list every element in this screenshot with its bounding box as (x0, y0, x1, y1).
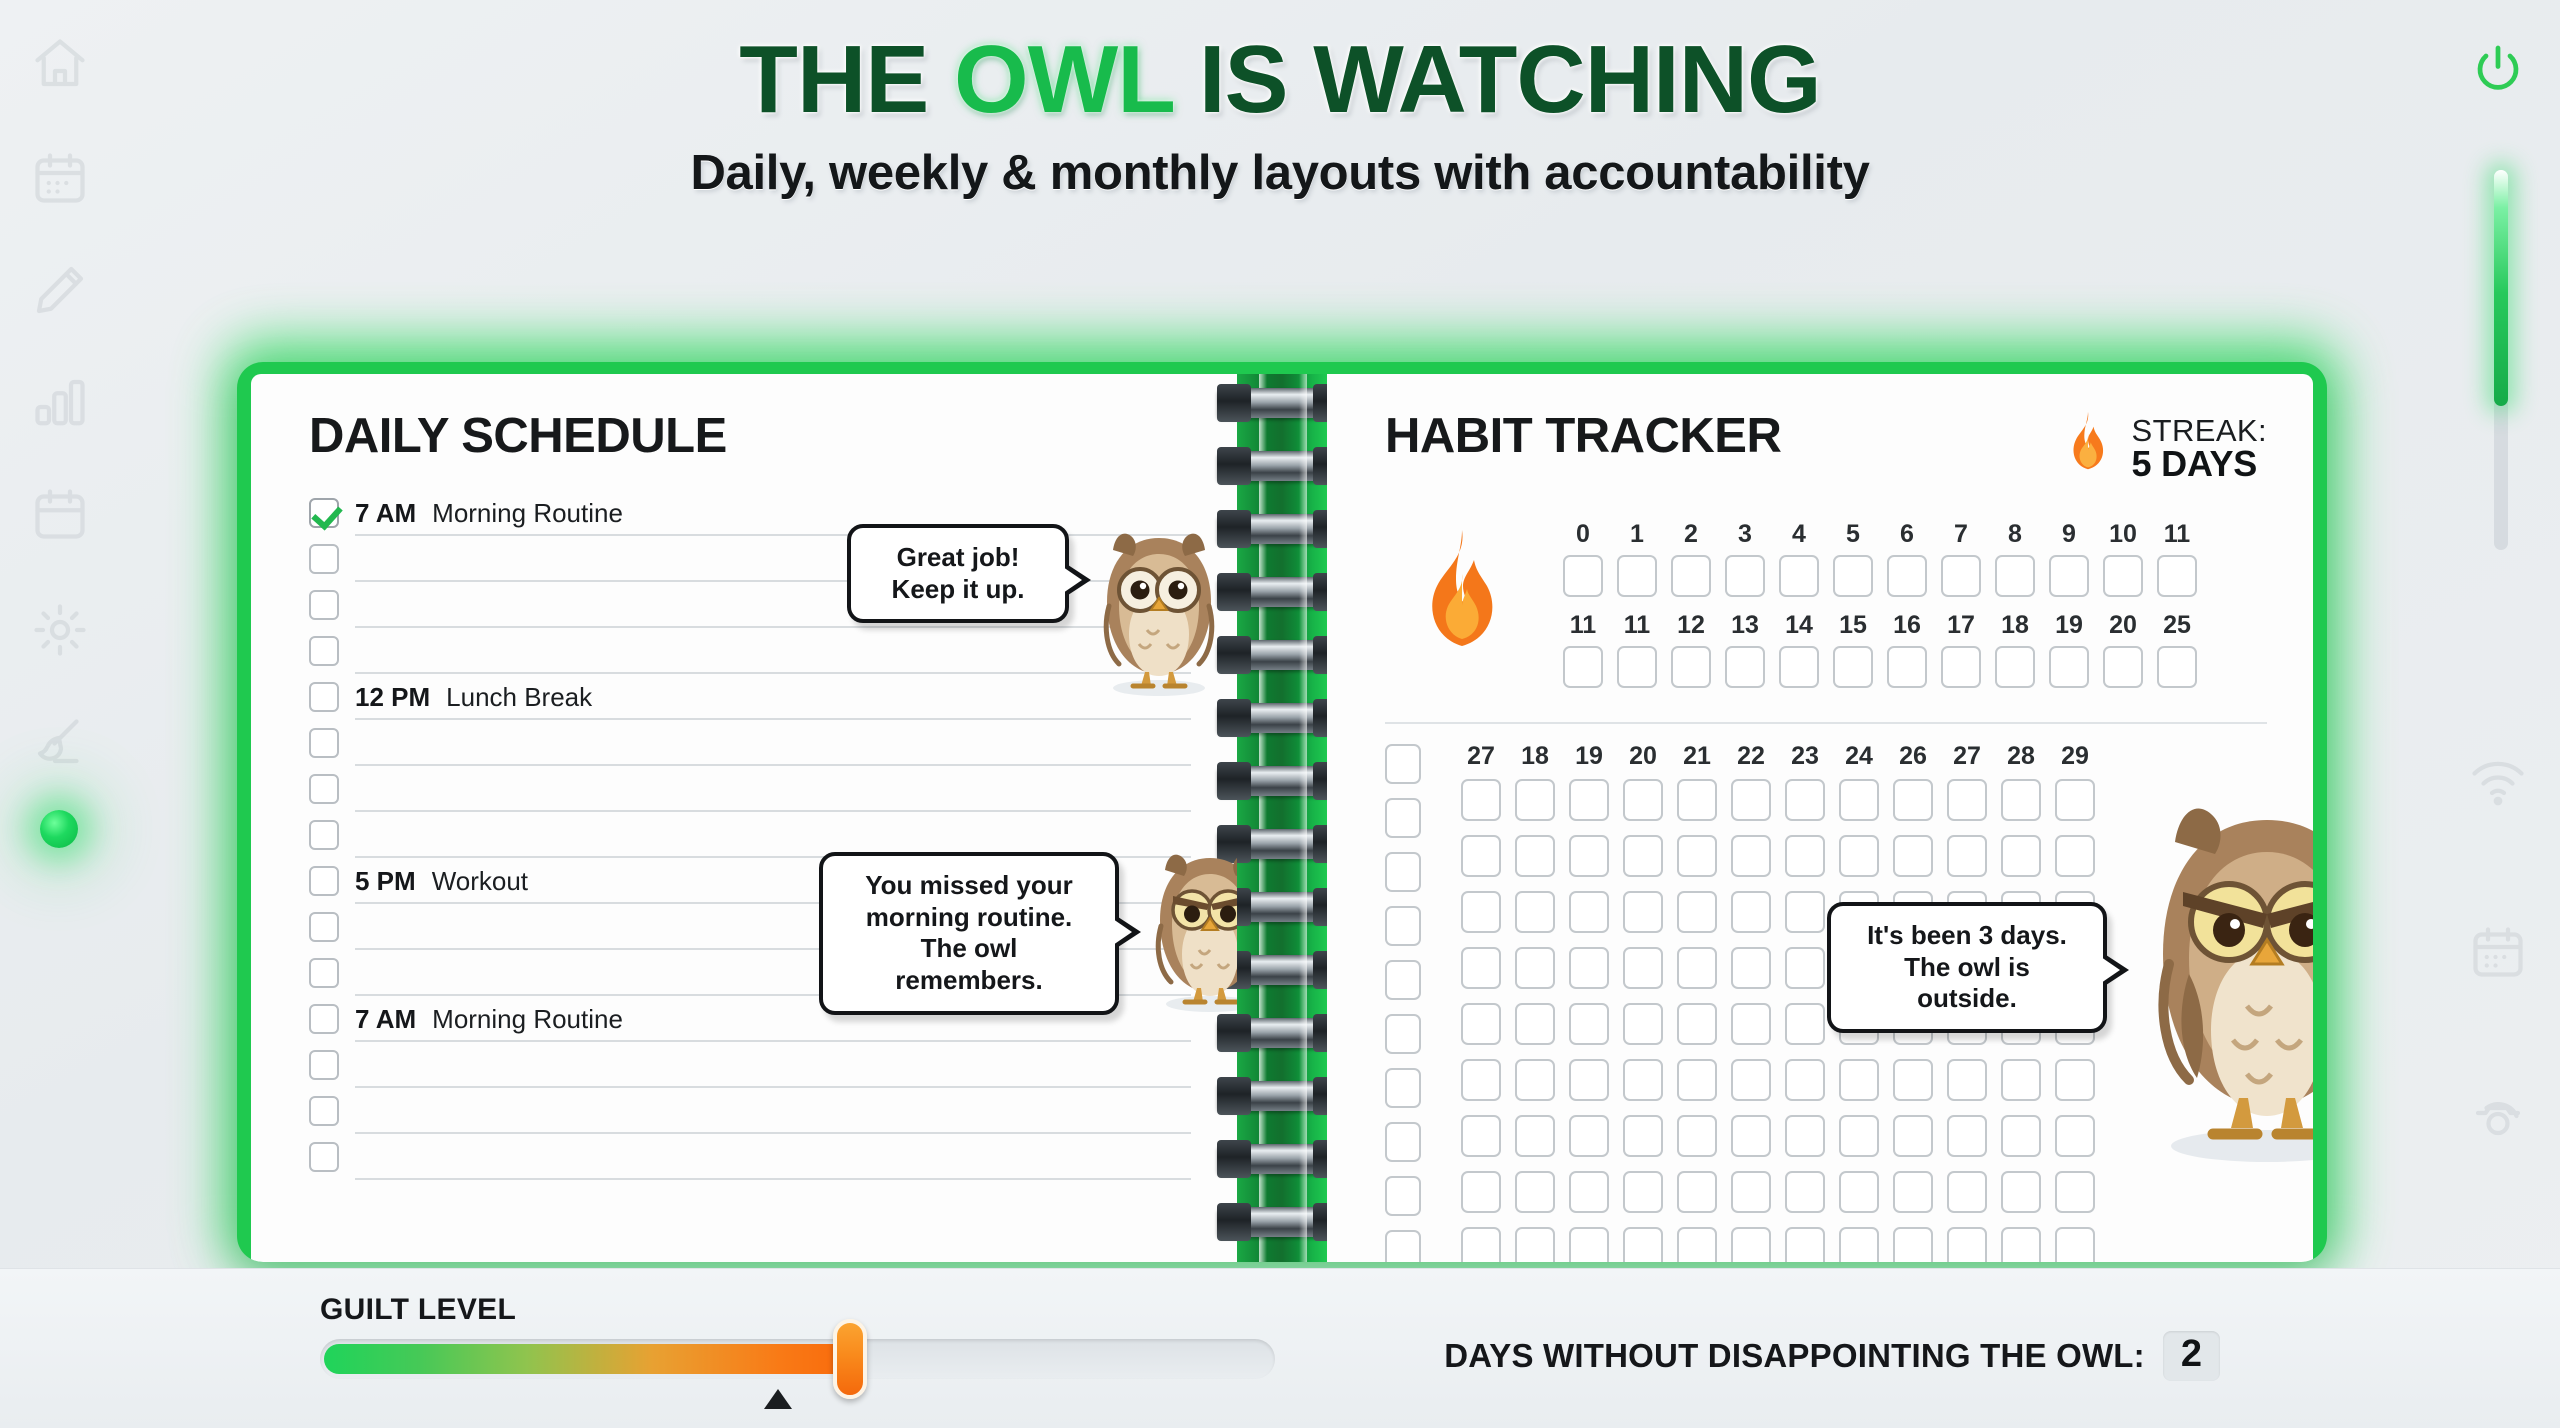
habit-cell[interactable] (2103, 646, 2143, 688)
schedule-checkbox-checked[interactable] (309, 498, 339, 528)
habit-name-checkbox[interactable] (1385, 1230, 1421, 1262)
habit-cell[interactable] (1785, 1059, 1825, 1101)
habit-cell[interactable] (1677, 947, 1717, 989)
habit-cell[interactable] (1461, 891, 1501, 933)
habit-cell[interactable] (1893, 1171, 1933, 1213)
habit-cell[interactable] (1461, 947, 1501, 989)
habit-cell[interactable] (1731, 779, 1771, 821)
habit-cell[interactable] (1569, 1059, 1609, 1101)
schedule-row[interactable] (309, 766, 1191, 812)
page-subtitle: Daily, weekly & monthly layouts with acc… (0, 145, 2560, 201)
habit-day-number: 27 (1461, 742, 1501, 771)
habit-cell[interactable] (1947, 835, 1987, 877)
habit-cell[interactable] (1785, 1171, 1825, 1213)
habit-day-number: 1 (1617, 520, 1657, 549)
habit-cell[interactable] (1677, 1171, 1717, 1213)
habit-cell[interactable] (1833, 555, 1873, 597)
daily-schedule-title: DAILY SCHEDULE (309, 408, 1191, 464)
habit-cell[interactable] (1623, 1059, 1663, 1101)
daily-schedule-page: DAILY SCHEDULE 7 AMMorning Routine12 PML… (251, 374, 1237, 1262)
habit-cell[interactable] (2055, 1227, 2095, 1262)
habit-day-number: 7 (1941, 520, 1981, 549)
habit-cell[interactable] (2001, 835, 2041, 877)
left-sidebar (0, 0, 200, 1428)
habit-day-number: 6 (1887, 520, 1927, 549)
vertical-slider-fill (2494, 170, 2508, 406)
habit-name-checkbox[interactable] (1385, 744, 1421, 784)
habit-cell[interactable] (1569, 947, 1609, 989)
habit-cell[interactable] (1947, 1115, 1987, 1157)
habit-cell[interactable] (1731, 835, 1771, 877)
guilt-level-slider[interactable] (320, 1339, 1275, 1379)
camera-refresh-icon[interactable] (2456, 1080, 2540, 1164)
habit-day-number: 11 (2157, 520, 2197, 549)
habit-cell[interactable] (1995, 646, 2035, 688)
streak-badge: STREAK: 5 DAYS (2060, 410, 2267, 489)
habit-name-checkbox[interactable] (1385, 906, 1421, 946)
schedule-line: 7 AMMorning Routine (355, 490, 1191, 536)
habit-cell[interactable] (1563, 555, 1603, 597)
habit-cell[interactable] (1731, 1003, 1771, 1045)
habit-day-number: 4 (1779, 520, 1819, 549)
guilt-level-thumb[interactable] (833, 1319, 867, 1399)
habit-day-number: 26 (1893, 742, 1933, 771)
habit-cell[interactable] (2049, 555, 2089, 597)
habit-cell[interactable] (2055, 1059, 2095, 1101)
guilt-level-marker (764, 1389, 792, 1409)
habit-cell[interactable] (1779, 555, 1819, 597)
habit-cell[interactable] (1677, 779, 1717, 821)
habit-day-number: 25 (2157, 611, 2197, 640)
days-counter-value: 2 (2163, 1331, 2220, 1381)
habit-cell[interactable] (1839, 779, 1879, 821)
habit-cell[interactable] (1569, 1115, 1609, 1157)
habit-cell[interactable] (1839, 1171, 1879, 1213)
habit-cell[interactable] (1779, 646, 1819, 688)
home-icon[interactable] (18, 22, 102, 106)
habit-matrix-row[interactable] (1461, 1171, 2267, 1213)
habit-cell[interactable] (1893, 1227, 1933, 1262)
habit-cell[interactable] (1515, 835, 1555, 877)
habit-cell[interactable] (1893, 1059, 1933, 1101)
habit-day-number: 24 (1839, 742, 1879, 771)
habit-day-number: 19 (1569, 742, 1609, 771)
habit-name-checkbox[interactable] (1385, 798, 1421, 838)
habit-cell[interactable] (1677, 1003, 1717, 1045)
schedule-row[interactable] (309, 1042, 1191, 1088)
habit-cell[interactable] (1461, 779, 1501, 821)
habit-cell[interactable] (1941, 646, 1981, 688)
owl-happy-illustration (1079, 510, 1237, 700)
habit-cell[interactable] (2001, 1059, 2041, 1101)
habit-cell[interactable] (1677, 835, 1717, 877)
habit-cell[interactable] (1461, 835, 1501, 877)
habit-cell[interactable] (1941, 555, 1981, 597)
habit-day-number: 20 (1623, 742, 1663, 771)
habit-day-number: 27 (1947, 742, 1987, 771)
bottom-status-bar: GUILT LEVEL DAYS WITHOUT DISAPPOINTING T… (0, 1268, 2560, 1428)
schedule-checkbox[interactable] (309, 682, 339, 712)
schedule-label: Lunch Break (446, 682, 592, 713)
habit-cell[interactable] (1677, 1227, 1717, 1262)
habit-cell[interactable] (2055, 835, 2095, 877)
habit-matrix-row[interactable] (1461, 1227, 2267, 1262)
schedule-line (355, 1042, 1191, 1088)
habit-row3-numbers: 271819202122232426272829 (1461, 742, 2267, 771)
habit-cell[interactable] (1623, 1003, 1663, 1045)
habit-cell[interactable] (1947, 1171, 1987, 1213)
habit-cell[interactable] (1785, 891, 1825, 933)
habit-cell[interactable] (1569, 835, 1609, 877)
habit-cell[interactable] (1569, 1227, 1609, 1262)
schedule-checkbox[interactable] (309, 590, 339, 620)
schedule-checkbox[interactable] (309, 958, 339, 988)
notebook-spiral-binding (1237, 374, 1327, 1262)
habit-cell[interactable] (1623, 1115, 1663, 1157)
habit-cell[interactable] (1833, 646, 1873, 688)
habit-day-number: 11 (1563, 611, 1603, 640)
habit-cell[interactable] (1785, 835, 1825, 877)
schedule-row[interactable] (309, 628, 1191, 674)
habit-cell[interactable] (1785, 1115, 1825, 1157)
habit-cell[interactable] (1839, 1059, 1879, 1101)
habit-cell[interactable] (2001, 1115, 2041, 1157)
bubble-happy: Great job! Keep it up. (847, 524, 1069, 623)
habit-cell[interactable] (1671, 646, 1711, 688)
right-sidebar (2360, 0, 2560, 1428)
habit-cell[interactable] (1731, 1059, 1771, 1101)
habit-cell[interactable] (1893, 835, 1933, 877)
habit-cell[interactable] (1623, 1171, 1663, 1213)
schedule-time: 5 PM (355, 866, 416, 897)
bubble-owl-outside: It's been 3 days. The owl is outside. (1827, 902, 2107, 1033)
schedule-checkbox[interactable] (309, 1096, 339, 1126)
schedule-time: 7 AM (355, 1004, 416, 1035)
habit-cell[interactable] (1515, 1115, 1555, 1157)
gear-icon[interactable] (18, 588, 102, 672)
title-part-1: THE (739, 26, 954, 133)
habit-name-checkbox[interactable] (1385, 1068, 1421, 1108)
habit-cell[interactable] (1893, 1115, 1933, 1157)
brush-icon[interactable] (18, 700, 102, 784)
habit-day-number: 8 (1995, 520, 2035, 549)
habit-cell[interactable] (1677, 1059, 1717, 1101)
habit-cell[interactable] (1731, 947, 1771, 989)
habit-cell[interactable] (1785, 1227, 1825, 1262)
habit-cell[interactable] (2157, 555, 2197, 597)
schedule-checkbox[interactable] (309, 728, 339, 758)
habit-cell[interactable] (1617, 555, 1657, 597)
schedule-label: Morning Routine (432, 1004, 623, 1035)
bar-chart-icon[interactable] (18, 360, 102, 444)
schedule-line (355, 766, 1191, 812)
habit-cell[interactable] (1731, 1227, 1771, 1262)
guilt-level-control: GUILT LEVEL (320, 1293, 1275, 1379)
schedule-label: Workout (432, 866, 528, 897)
habit-cell[interactable] (1671, 555, 1711, 597)
habit-cell[interactable] (1569, 1003, 1609, 1045)
habit-row2-numbers: 111112131415161718192025 (1563, 611, 2267, 640)
schedule-checkbox[interactable] (309, 774, 339, 804)
schedule-row[interactable] (309, 1134, 1191, 1180)
habit-cell[interactable] (1731, 1171, 1771, 1213)
habit-cell[interactable] (1995, 555, 2035, 597)
habit-cell[interactable] (1461, 1171, 1501, 1213)
habit-name-checkbox[interactable] (1385, 1122, 1421, 1162)
habit-cell[interactable] (1725, 646, 1765, 688)
habit-cell[interactable] (1677, 1115, 1717, 1157)
calendar-icon[interactable] (18, 136, 102, 220)
habit-cell[interactable] (1461, 1115, 1501, 1157)
habit-cell[interactable] (1461, 1227, 1501, 1262)
status-dot-indicator[interactable] (40, 810, 78, 848)
habit-day-number: 10 (2103, 520, 2143, 549)
habit-cell[interactable] (2157, 646, 2197, 688)
habit-cell[interactable] (1785, 1003, 1825, 1045)
habit-day-number: 19 (2049, 611, 2089, 640)
habit-cell[interactable] (1785, 779, 1825, 821)
habit-cell[interactable] (2049, 646, 2089, 688)
habit-day-number: 3 (1725, 520, 1765, 549)
habit-name-checkbox[interactable] (1385, 960, 1421, 1000)
habit-day-number: 2 (1671, 520, 1711, 549)
schedule-row[interactable] (309, 1088, 1191, 1134)
notebook: DAILY SCHEDULE 7 AMMorning Routine12 PML… (237, 362, 2327, 1262)
schedule-checkbox[interactable] (309, 1050, 339, 1080)
habit-tracker-page: HABIT TRACKER STREAK: 5 DAYS (1327, 374, 2313, 1262)
habit-cell[interactable] (2055, 1115, 2095, 1157)
calendar-icon[interactable] (2456, 910, 2540, 994)
habit-name-column[interactable] (1385, 742, 1421, 1262)
habit-cell[interactable] (2001, 779, 2041, 821)
habit-day-number: 22 (1731, 742, 1771, 771)
habit-tracker-title: HABIT TRACKER (1385, 408, 1781, 464)
habit-cell[interactable] (2103, 555, 2143, 597)
page-title: THE OWL IS WATCHING (739, 30, 1820, 131)
schedule-checkbox[interactable] (309, 636, 339, 666)
habit-day-number: 15 (1833, 611, 1873, 640)
habit-cell[interactable] (1461, 1059, 1501, 1101)
schedule-row[interactable] (309, 720, 1191, 766)
habit-day-number: 12 (1671, 611, 1711, 640)
schedule-line (355, 720, 1191, 766)
habit-name-checkbox[interactable] (1385, 1014, 1421, 1054)
page-header: THE OWL IS WATCHING Daily, weekly & mont… (0, 0, 2560, 201)
habit-day-number: 9 (2049, 520, 2089, 549)
habit-cell[interactable] (1947, 1227, 1987, 1262)
schedule-line (355, 1088, 1191, 1134)
schedule-checkbox[interactable] (309, 544, 339, 574)
habit-day-number: 17 (1941, 611, 1981, 640)
habit-cell[interactable] (1839, 1227, 1879, 1262)
habit-cell[interactable] (1623, 947, 1663, 989)
schedule-time: 7 AM (355, 498, 416, 529)
habit-cell[interactable] (1623, 835, 1663, 877)
habit-cell[interactable] (2055, 1171, 2095, 1213)
habit-cell[interactable] (1569, 891, 1609, 933)
habit-day-number: 20 (2103, 611, 2143, 640)
schedule-checkbox[interactable] (309, 912, 339, 942)
habit-cell[interactable] (2001, 1171, 2041, 1213)
habit-cell[interactable] (1515, 1171, 1555, 1213)
habit-cell[interactable] (1947, 1059, 1987, 1101)
habit-day-number: 28 (2001, 742, 2041, 771)
habit-row1-cells[interactable] (1563, 555, 2267, 597)
flame-icon (2060, 410, 2116, 489)
big-flame-icon (1407, 526, 1517, 702)
habit-cell[interactable] (1563, 646, 1603, 688)
guilt-level-fill (324, 1344, 854, 1374)
habit-cell[interactable] (1623, 1227, 1663, 1262)
habit-divider (1385, 722, 2267, 724)
habit-name-checkbox[interactable] (1385, 1176, 1421, 1216)
habit-cell[interactable] (1515, 1227, 1555, 1262)
habit-cell[interactable] (1839, 835, 1879, 877)
habit-cell[interactable] (1731, 891, 1771, 933)
bubble-angry: You missed your morning routine. The owl… (819, 852, 1119, 1015)
habit-day-number: 14 (1779, 611, 1819, 640)
habit-day-number: 16 (1887, 611, 1927, 640)
power-icon[interactable] (2456, 28, 2540, 112)
habit-cell[interactable] (1839, 1115, 1879, 1157)
habit-row2-cells[interactable] (1563, 646, 2267, 688)
schedule-checkbox[interactable] (309, 866, 339, 896)
schedule-row[interactable]: 12 PMLunch Break (309, 674, 1191, 720)
schedule-time: 12 PM (355, 682, 430, 713)
habit-cell[interactable] (1569, 779, 1609, 821)
owl-angry-small-illustration (1135, 834, 1237, 1014)
habit-cell[interactable] (1515, 947, 1555, 989)
schedule-checkbox[interactable] (309, 1142, 339, 1172)
vertical-slider[interactable] (2494, 170, 2508, 550)
habit-cell[interactable] (1515, 779, 1555, 821)
habit-day-number: 0 (1563, 520, 1603, 549)
habit-cell[interactable] (1785, 947, 1825, 989)
habit-row1-numbers: 01234567891011 (1563, 520, 2267, 549)
owl-angry-large-illustration (2117, 794, 2313, 1164)
habit-cell[interactable] (1569, 1171, 1609, 1213)
habit-cell[interactable] (1515, 1003, 1555, 1045)
habit-cell[interactable] (1515, 1059, 1555, 1101)
habit-cell[interactable] (1893, 779, 1933, 821)
schedule-line (355, 1134, 1191, 1180)
habit-cell[interactable] (1731, 1115, 1771, 1157)
habit-day-number: 21 (1677, 742, 1717, 771)
habit-cell[interactable] (1947, 779, 1987, 821)
habit-day-number: 11 (1617, 611, 1657, 640)
habit-day-number: 13 (1725, 611, 1765, 640)
habit-day-number: 5 (1833, 520, 1873, 549)
habit-cell[interactable] (1887, 646, 1927, 688)
habit-cell[interactable] (1623, 779, 1663, 821)
habit-day-number: 18 (1995, 611, 2035, 640)
days-counter-label: DAYS WITHOUT DISAPPOINTING THE OWL: (1444, 1337, 2145, 1375)
pencil-icon[interactable] (18, 248, 102, 332)
guilt-level-label: GUILT LEVEL (320, 1293, 1275, 1327)
calendar-alt-icon[interactable] (18, 472, 102, 556)
habit-cell[interactable] (1461, 1003, 1501, 1045)
schedule-label: Morning Routine (432, 498, 623, 529)
habit-name-checkbox[interactable] (1385, 852, 1421, 892)
habit-day-number: 18 (1515, 742, 1555, 771)
streak-value: 5 DAYS (2132, 446, 2267, 483)
habit-cell[interactable] (1515, 891, 1555, 933)
habit-cell[interactable] (1623, 891, 1663, 933)
habit-cell[interactable] (2001, 1227, 2041, 1262)
wifi-icon[interactable] (2456, 740, 2540, 824)
schedule-line (355, 628, 1191, 674)
schedule-line: 12 PMLunch Break (355, 674, 1191, 720)
habit-cell[interactable] (1677, 891, 1717, 933)
days-counter: DAYS WITHOUT DISAPPOINTING THE OWL: 2 (1444, 1331, 2220, 1381)
title-part-3: IS WATCHING (1173, 26, 1821, 133)
schedule-checkbox[interactable] (309, 820, 339, 850)
habit-day-number: 29 (2055, 742, 2095, 771)
title-part-2: OWL (954, 26, 1173, 133)
schedule-checkbox[interactable] (309, 1004, 339, 1034)
habit-cell[interactable] (1887, 555, 1927, 597)
habit-cell[interactable] (1725, 555, 1765, 597)
habit-cell[interactable] (1617, 646, 1657, 688)
streak-label: STREAK: (2132, 415, 2267, 447)
habit-cell[interactable] (2055, 779, 2095, 821)
habit-day-number: 23 (1785, 742, 1825, 771)
